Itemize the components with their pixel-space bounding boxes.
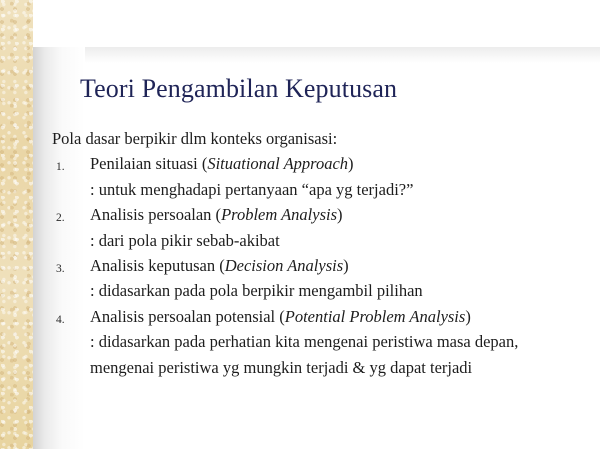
main-suffix: ) (348, 154, 354, 173)
main-prefix: Analisis keputusan ( (90, 256, 225, 275)
main-prefix: Analisis persoalan potensial ( (90, 307, 285, 326)
main-prefix: Analisis persoalan ( (90, 205, 221, 224)
slide-body: Pola dasar berpikir dlm konteks organisa… (52, 126, 572, 380)
main-italic-term: Decision Analysis (225, 256, 343, 275)
list-number: 1. (56, 155, 65, 180)
main-suffix: ) (465, 307, 471, 326)
list-item: 3. Analisis keputusan (Decision Analysis… (52, 253, 572, 304)
presentation-slide: Teori Pengambilan Keputusan Pola dasar b… (0, 0, 600, 449)
list-item-main: Analisis persoalan potensial (Potential … (90, 304, 572, 329)
list-item: 1. Penilaian situasi (Situational Approa… (52, 151, 572, 202)
list-item-sub: : didasarkan pada pola berpikir mengambi… (90, 278, 572, 303)
main-prefix: Penilaian situasi ( (90, 154, 207, 173)
list-item-main: Penilaian situasi (Situational Approach) (90, 151, 572, 176)
main-italic-term: Problem Analysis (221, 205, 337, 224)
list-item-sub: : dari pola pikir sebab-akibat (90, 228, 572, 253)
list-item-sub: : didasarkan pada perhatian kita mengena… (90, 329, 572, 380)
list-item-sub: : untuk menghadapi pertanyaan “apa yg te… (90, 177, 572, 202)
list-number: 4. (56, 308, 65, 333)
main-italic-term: Situational Approach (207, 154, 348, 173)
main-suffix: ) (337, 205, 343, 224)
list-number: 2. (56, 206, 65, 231)
intro-line: Pola dasar berpikir dlm konteks organisa… (52, 126, 572, 151)
list-item-main: Analisis persoalan (Problem Analysis) (90, 202, 572, 227)
left-texture-band (0, 0, 33, 449)
main-italic-term: Potential Problem Analysis (285, 307, 466, 326)
main-suffix: ) (343, 256, 349, 275)
list-item: 4. Analisis persoalan potensial (Potenti… (52, 304, 572, 380)
slide-title: Teori Pengambilan Keputusan (80, 72, 550, 106)
list-number: 3. (56, 257, 65, 282)
list-item-main: Analisis keputusan (Decision Analysis) (90, 253, 572, 278)
list-item: 2. Analisis persoalan (Problem Analysis)… (52, 202, 572, 253)
